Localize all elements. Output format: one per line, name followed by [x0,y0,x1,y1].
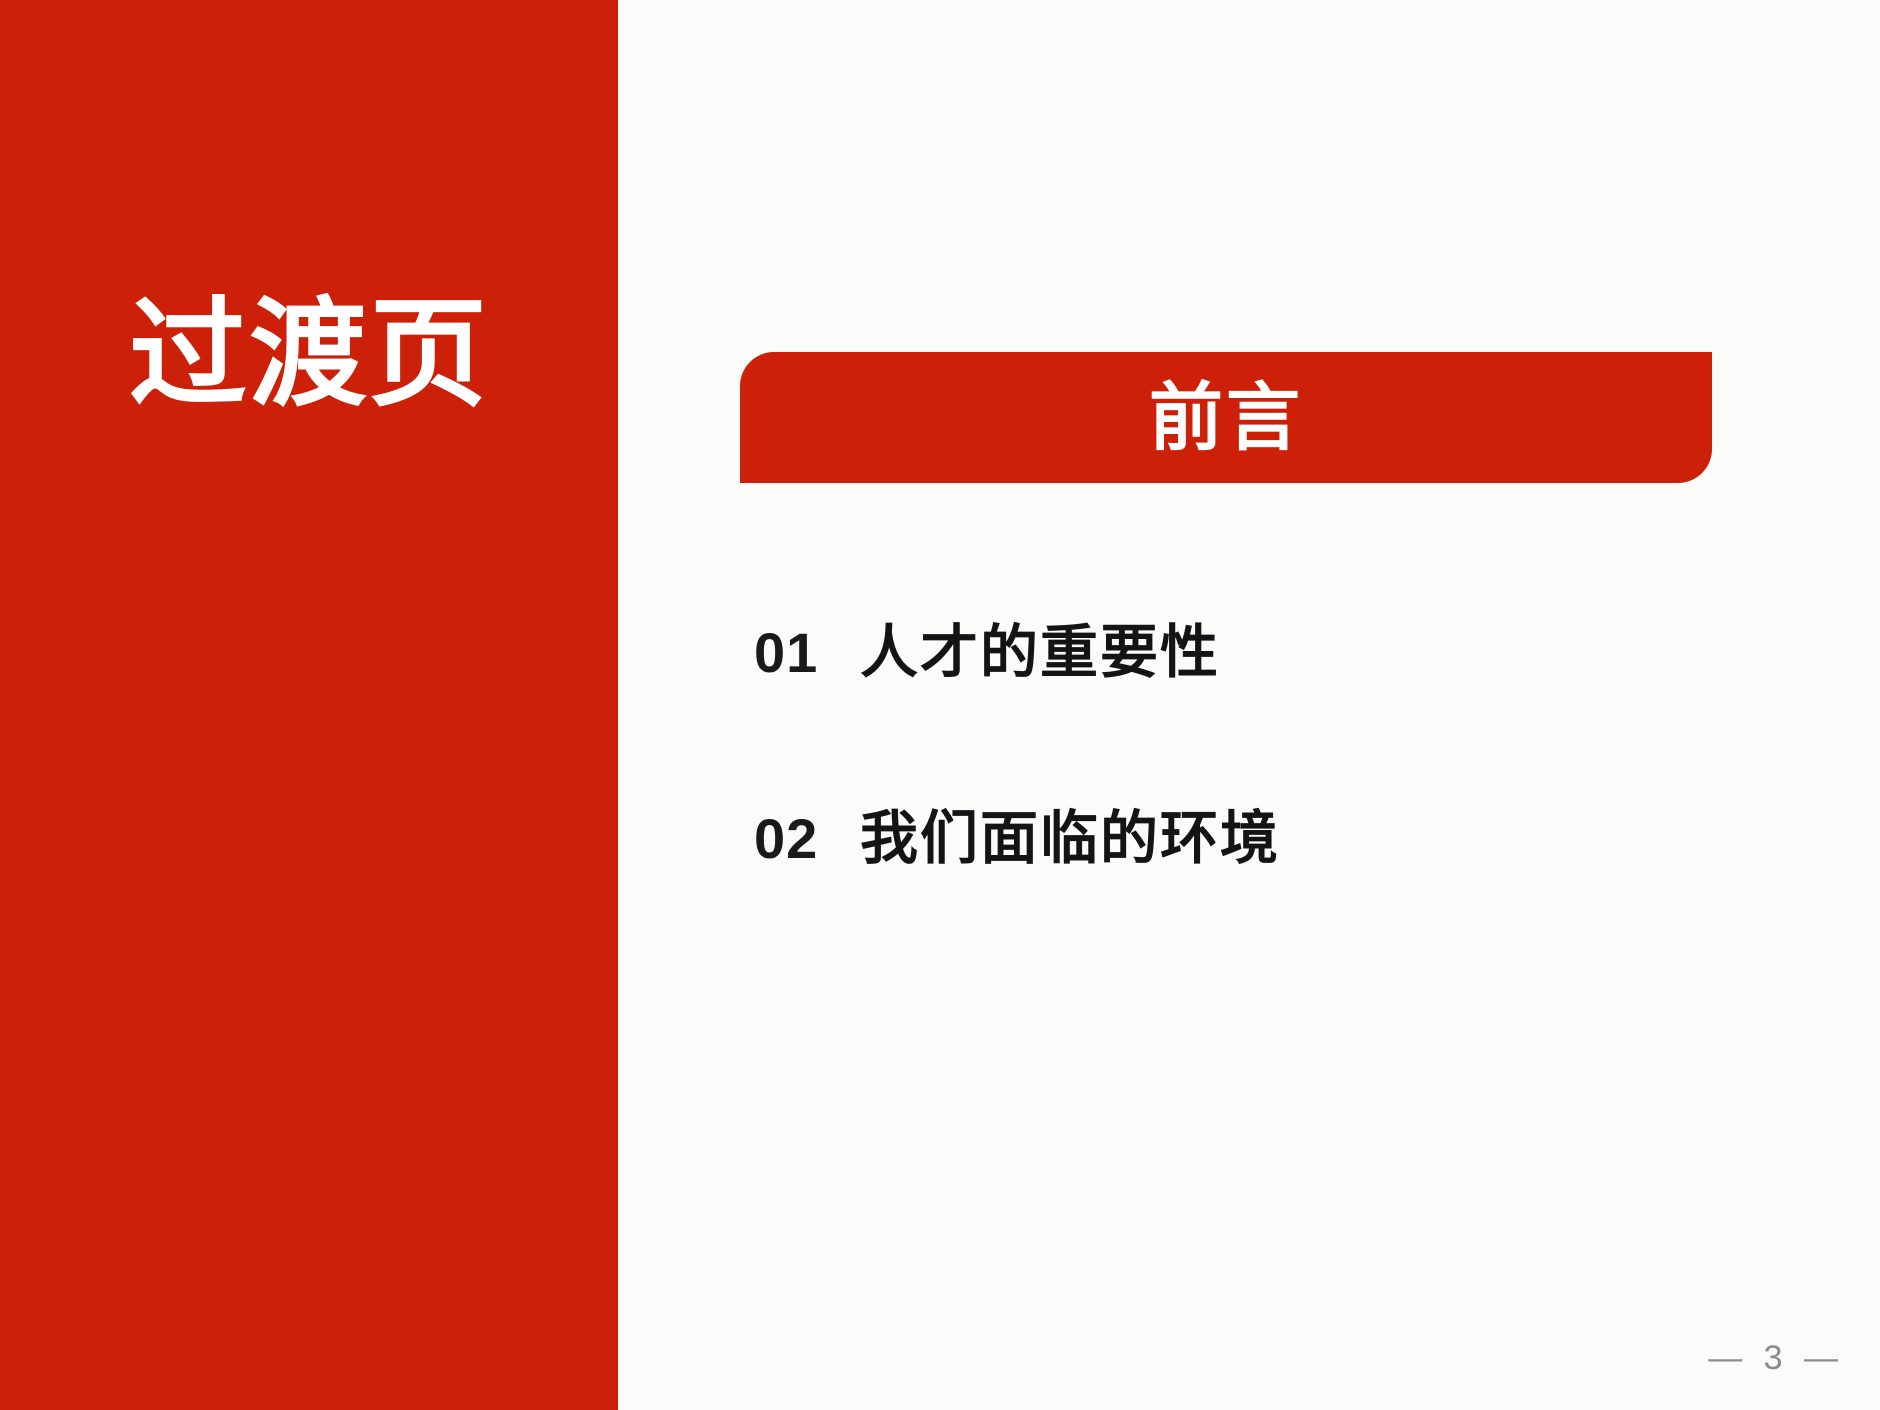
slide-section-title: 过渡页 [0,288,618,424]
list-item[interactable]: 02 我们面临的环境 [754,810,1754,910]
agenda-item-label: 人才的重要性 [860,624,1220,682]
agenda-item-number: 01 [754,625,860,681]
left-red-panel: 过渡页 [0,0,618,1410]
page-number: — 3 — [1708,1339,1844,1378]
list-item[interactable]: 01 人才的重要性 [754,624,1754,724]
content-area: 前言 01 人才的重要性 02 我们面临的环境 — 3 — [618,0,1880,1410]
slide-canvas: 过渡页 前言 01 人才的重要性 02 我们面临的环境 — 3 — [0,0,1880,1410]
agenda-list: 01 人才的重要性 02 我们面临的环境 [754,624,1754,996]
section-banner-label: 前言 [1149,381,1303,455]
agenda-item-label: 我们面临的环境 [860,810,1280,868]
agenda-item-number: 02 [754,811,860,867]
section-banner: 前言 [740,352,1712,483]
